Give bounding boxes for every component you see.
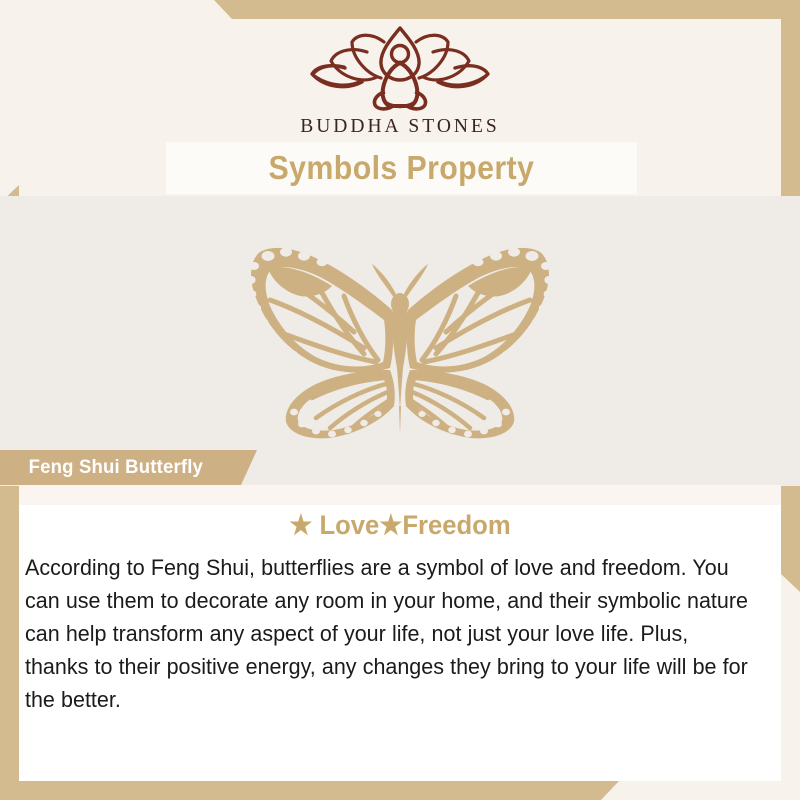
butterfly-icon [224,234,576,448]
page-title: Symbols Property [269,149,535,187]
card-top-strip [19,485,781,505]
description-card: ★ Love★Freedom According to Feng Shui, b… [19,485,781,781]
lotus-meditation-figure-icon [307,22,493,114]
butterfly-holder [0,196,800,486]
section-label-banner: Feng Shui Butterfly [0,450,257,485]
content-subheading: ★ Love★Freedom [38,510,762,541]
brand-name: BUDDHA STONES [300,116,500,138]
decorative-band-top [214,0,800,19]
section-label-text: Feng Shui Butterfly [29,456,203,479]
title-banner: Symbols Property [166,142,637,194]
content-paragraph: According to Feng Shui, butterflies are … [25,551,751,716]
decorative-band-bottom [0,781,619,800]
promo-graphic-page: BUDDHA STONES Symbols Property [0,0,800,800]
brand-logo: BUDDHA STONES [0,22,800,142]
illustration-section [0,196,800,486]
